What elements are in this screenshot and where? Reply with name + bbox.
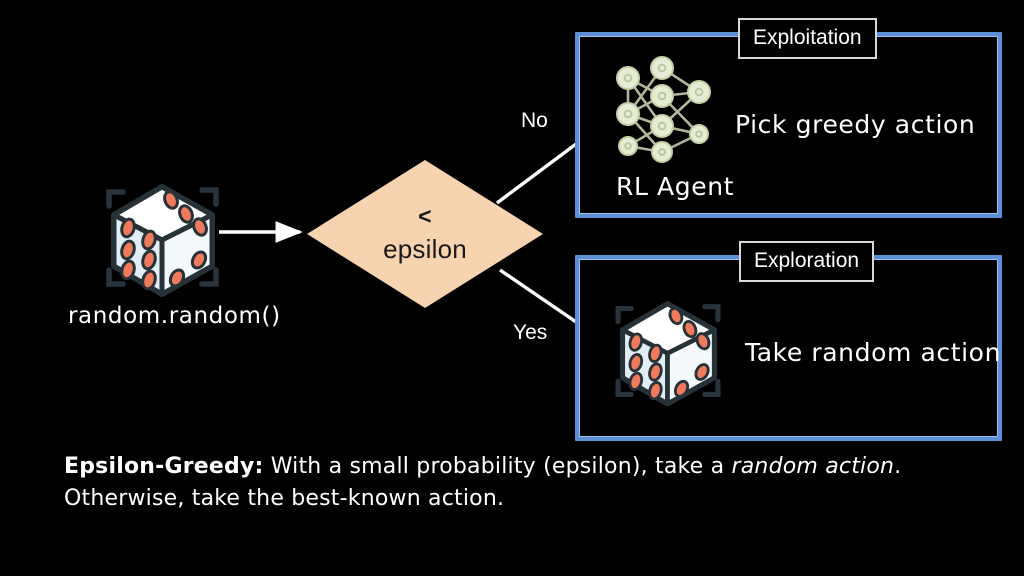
random-function-label: random.random() bbox=[68, 303, 281, 329]
decision-operator: < bbox=[418, 202, 432, 231]
caption-line-1: Epsilon-Greedy: With a small probability… bbox=[64, 451, 994, 483]
caption-block: Epsilon-Greedy: With a small probability… bbox=[64, 451, 994, 515]
caption-line-2: Otherwise, take the best-known action. bbox=[64, 483, 994, 515]
exploitation-action-text: Pick greedy action bbox=[735, 110, 975, 139]
branch-label-no: No bbox=[521, 109, 548, 133]
panel-label-exploration: Exploration bbox=[739, 241, 874, 282]
caption-term: Epsilon-Greedy: bbox=[64, 454, 264, 479]
random-dice-icon bbox=[95, 170, 230, 305]
rl-agent-caption: RL Agent bbox=[616, 172, 734, 201]
caption-emphasis: random action bbox=[732, 454, 895, 479]
decision-diamond: < epsilon bbox=[305, 158, 545, 310]
slide-canvas: random.random() < epsilon No Yes Exploit… bbox=[0, 0, 1024, 576]
panel-label-exploitation: Exploitation bbox=[738, 18, 877, 59]
exploration-action-text: Take random action bbox=[745, 338, 1001, 367]
caption-line1-part1: With a small probability (epsilon), take… bbox=[264, 454, 732, 479]
caption-line1-part3: . bbox=[894, 454, 901, 479]
neural-network-icon bbox=[604, 54, 726, 170]
exploration-dice-icon bbox=[604, 288, 732, 414]
decision-variable: epsilon bbox=[383, 233, 467, 266]
branch-label-yes: Yes bbox=[513, 321, 547, 345]
decision-diamond-text: < epsilon bbox=[305, 158, 545, 310]
